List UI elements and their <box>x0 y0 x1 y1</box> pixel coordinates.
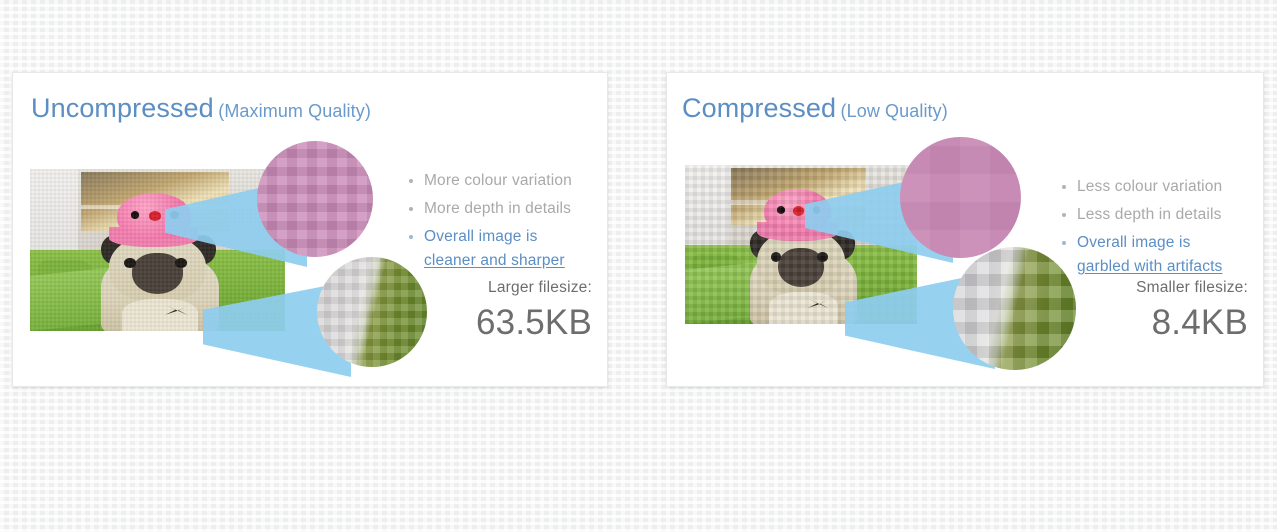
magnifier-circle-green <box>953 247 1076 370</box>
pug-chest <box>122 299 199 331</box>
link-underlined-text[interactable]: cleaner and sharper <box>424 252 565 269</box>
link-underlined-text[interactable]: garbled with artifacts <box>1077 258 1222 275</box>
magnifier-circle-pink <box>257 141 373 257</box>
plush-eye-left <box>777 206 785 213</box>
link-lead-text: Overall image is <box>1077 234 1191 251</box>
link-lead-text: Overall image is <box>424 228 538 245</box>
magnifier-circle-green <box>317 257 427 367</box>
list-item: More depth in details <box>406 197 606 221</box>
pug-eye-left <box>124 258 135 268</box>
card-heading-uncompressed: Uncompressed (Maximum Quality) <box>31 95 371 122</box>
magnifier-green-fill <box>317 257 427 367</box>
filesize-value: 63.5KB <box>476 305 592 340</box>
list-item: Less colour variation <box>1059 175 1264 199</box>
benefits-list-compressed: Less colour variation Less depth in deta… <box>1059 175 1264 279</box>
pug-chest <box>769 292 839 324</box>
benefits-list-uncompressed: More colour variation More depth in deta… <box>406 169 606 273</box>
magnifier-circle-pink <box>900 137 1021 258</box>
magnifier-green-fill <box>953 247 1076 370</box>
magnifier-pink-fill <box>257 141 373 257</box>
card-heading-compressed: Compressed (Low Quality) <box>682 95 948 122</box>
heading-main: Compressed <box>682 93 836 123</box>
heading-main: Uncompressed <box>31 93 214 123</box>
plush-eye-left <box>131 211 140 218</box>
filesize-block-uncompressed: Larger filesize: 63.5KB <box>476 280 592 340</box>
card-compressed: Compressed (Low Quality) <box>666 72 1264 387</box>
plush-beak <box>149 211 162 221</box>
pug-eye-right <box>175 258 186 268</box>
card-uncompressed: Uncompressed (Maximum Quality) <box>12 72 608 387</box>
filesize-value: 8.4KB <box>1136 305 1248 340</box>
list-item: More colour variation <box>406 169 606 193</box>
filesize-block-compressed: Smaller filesize: 8.4KB <box>1136 280 1248 340</box>
heading-subtitle: (Low Quality) <box>841 101 948 121</box>
magnifier-pink-fill <box>900 137 1021 258</box>
pug-eye-right <box>817 252 827 262</box>
list-item-link[interactable]: Overall image is cleaner and sharper <box>406 225 606 273</box>
filesize-label: Larger filesize: <box>476 280 592 296</box>
list-item-link[interactable]: Overall image is garbled with artifacts <box>1059 231 1264 279</box>
comparison-stage: Uncompressed (Maximum Quality) <box>0 0 1277 532</box>
filesize-label: Smaller filesize: <box>1136 280 1248 296</box>
heading-subtitle: (Maximum Quality) <box>218 101 371 121</box>
list-item: Less depth in details <box>1059 203 1264 227</box>
